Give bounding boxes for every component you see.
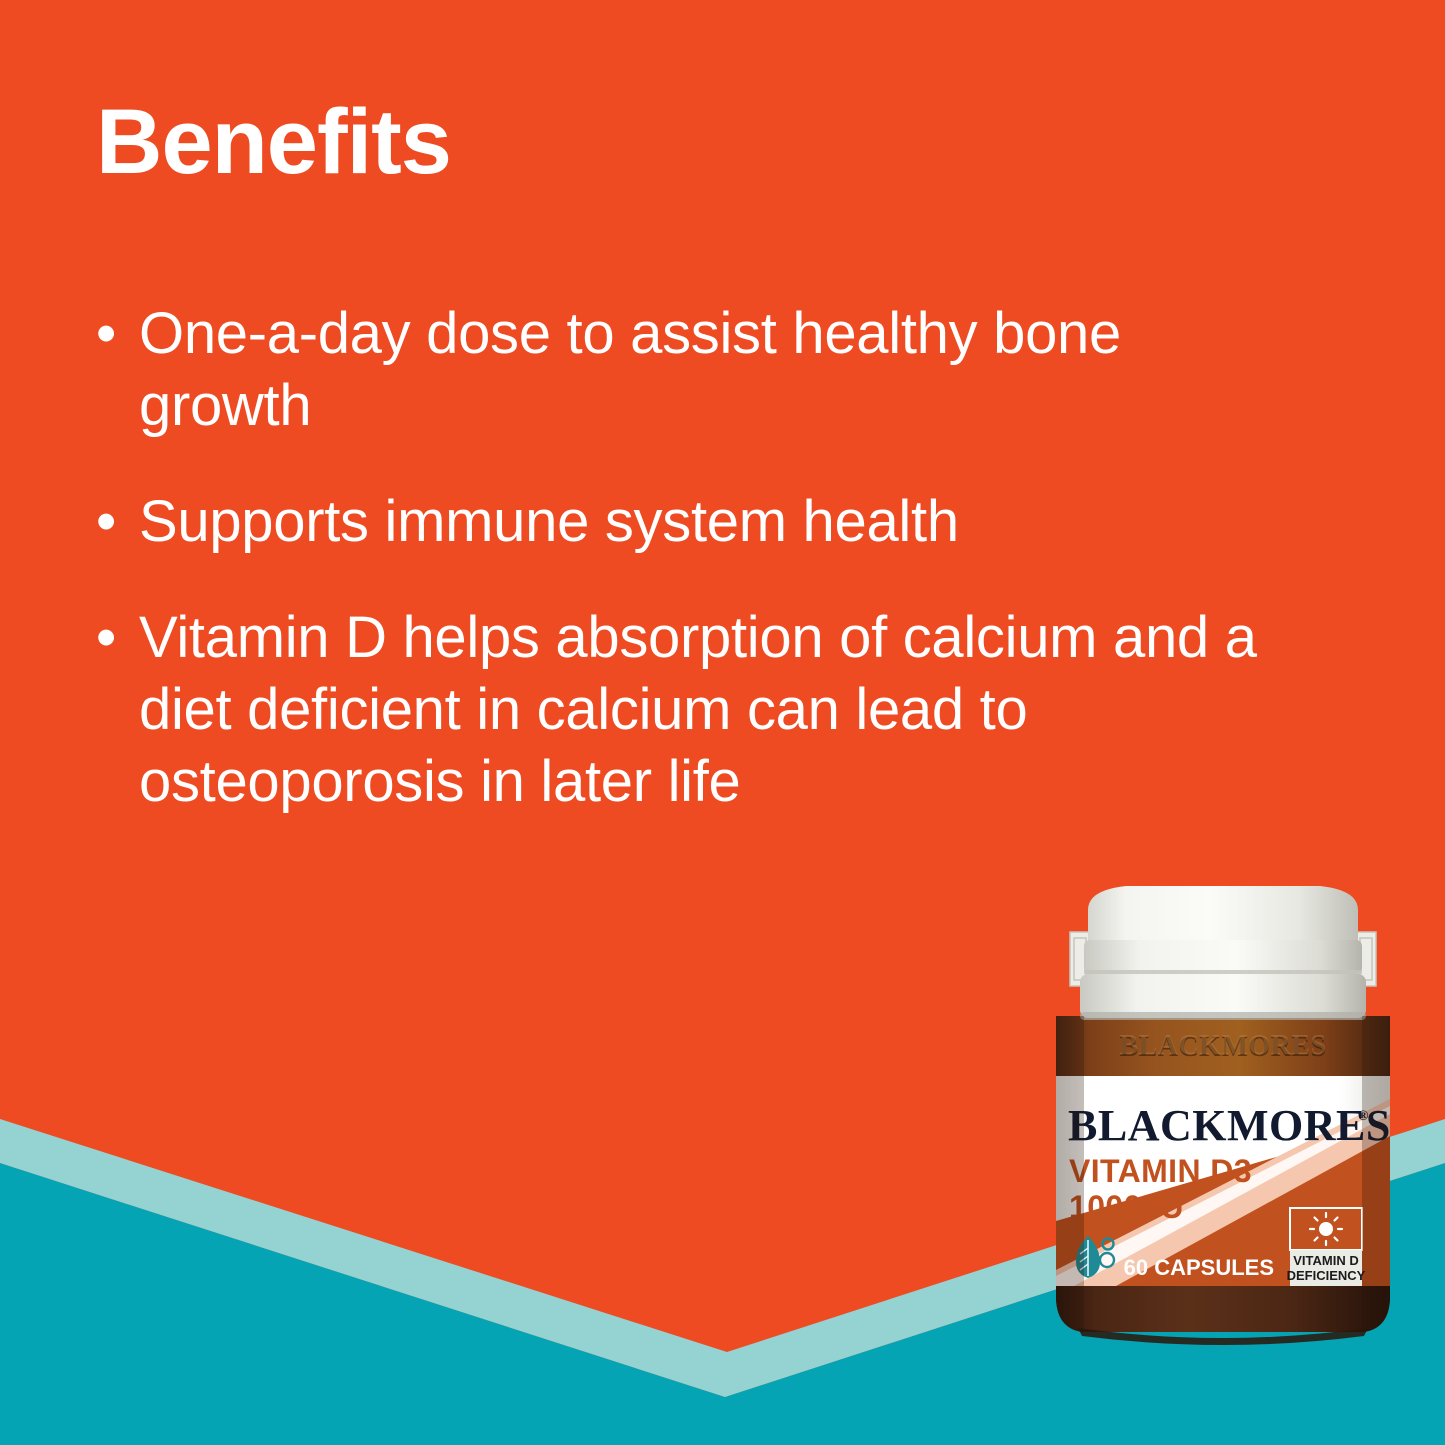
benefits-list: • One-a-day dose to assist healthy bone …: [96, 298, 1286, 862]
benefit-text: Supports immune system health: [139, 486, 1286, 558]
benefit-text: One-a-day dose to assist healthy bone gr…: [139, 298, 1286, 442]
benefit-text: Vitamin D helps absorption of calcium an…: [139, 602, 1286, 818]
label-capsule-count: 60 CAPSULES: [1124, 1255, 1274, 1280]
promo-banner: Benefits • One-a-day dose to assist heal…: [0, 0, 1445, 1445]
product-bottle-image: BLACKMORES BLACKMORES: [1028, 866, 1418, 1396]
label-brand-name: BLACKMORES: [1068, 1101, 1391, 1150]
status-badge: VITAMIN D DEFICIENCY: [1287, 1208, 1366, 1286]
embossed-brand-text: BLACKMORES BLACKMORES: [1119, 1030, 1326, 1063]
cap-seam-line: [1084, 970, 1362, 974]
label-product-name: VITAMIN D3: [1069, 1153, 1252, 1189]
sun-icon: [1310, 1213, 1342, 1245]
list-item: • One-a-day dose to assist healthy bone …: [96, 298, 1286, 442]
bullet-marker-icon: •: [96, 298, 139, 370]
cap-ring-shadow: [1080, 1012, 1366, 1020]
embossed-brand-highlight: BLACKMORES: [1119, 1030, 1326, 1061]
bullet-marker-icon: •: [96, 602, 139, 674]
bullet-marker-icon: •: [96, 486, 139, 558]
badge-line-2: DEFICIENCY: [1287, 1268, 1366, 1283]
page-title: Benefits: [96, 96, 451, 188]
badge-line-1: VITAMIN D: [1293, 1253, 1358, 1268]
cap-tamper-ring: [1080, 974, 1366, 1018]
label-dosage: 1000 IU: [1069, 1189, 1184, 1225]
list-item: • Vitamin D helps absorption of calcium …: [96, 602, 1286, 818]
list-item: • Supports immune system health: [96, 486, 1286, 558]
bottle-cap-top: [1088, 886, 1358, 944]
bottle-edge-shading-left: [1056, 1016, 1084, 1332]
bottle-edge-shading-right: [1362, 1016, 1390, 1332]
bottle-cap-body: [1084, 940, 1362, 974]
bottle-contents-dark: [1056, 1278, 1390, 1332]
